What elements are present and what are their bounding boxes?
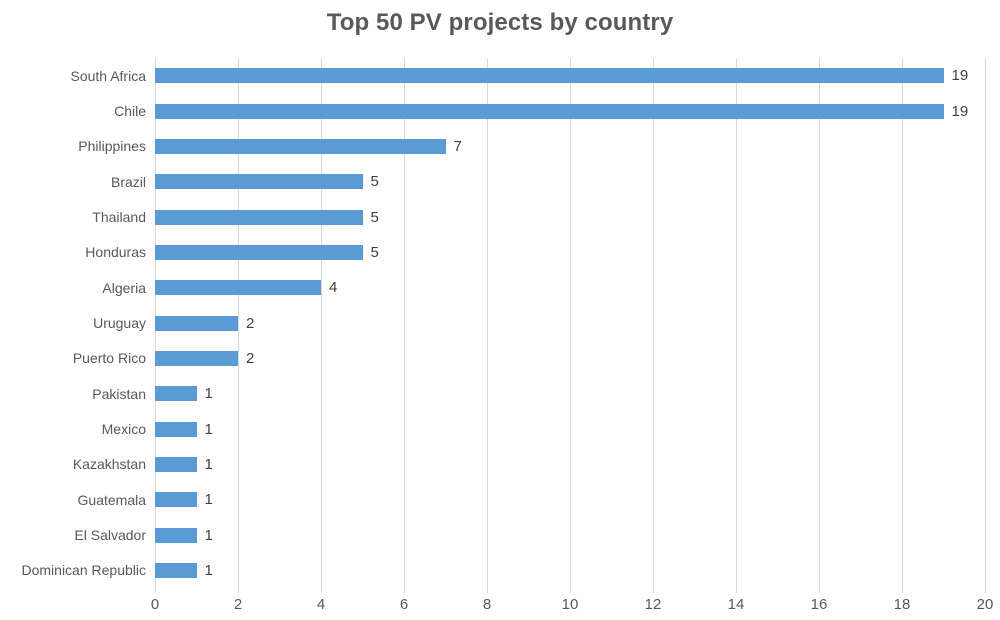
bar-row[interactable]: 1: [155, 386, 985, 401]
tick-mark-18: [902, 588, 903, 593]
bar-row[interactable]: 1: [155, 528, 985, 543]
x-tick-label-12: 12: [623, 596, 683, 614]
bar-honduras[interactable]: [155, 245, 363, 260]
bar-value-label: 1: [205, 455, 213, 474]
tick-mark-6: [404, 588, 405, 593]
bar-row[interactable]: 7: [155, 139, 985, 154]
bar-philippines[interactable]: [155, 139, 446, 154]
x-tick-label-6: 6: [374, 596, 434, 614]
bar-el-salvador[interactable]: [155, 528, 197, 543]
x-tick-label-8: 8: [457, 596, 517, 614]
bar-value-label: 1: [205, 420, 213, 439]
x-tick-label-10: 10: [540, 596, 600, 614]
bar-row[interactable]: 1: [155, 492, 985, 507]
bar-row[interactable]: 2: [155, 316, 985, 331]
bar-value-label: 4: [329, 278, 337, 297]
tick-mark-10: [570, 588, 571, 593]
x-tick-label-0: 0: [125, 596, 185, 614]
y-axis-label-kazakhstan: Kazakhstan: [0, 455, 146, 473]
y-axis-label-puerto-rico: Puerto Rico: [0, 349, 146, 367]
y-axis-label-honduras: Honduras: [0, 243, 146, 261]
bar-value-label: 1: [205, 526, 213, 545]
bar-brazil[interactable]: [155, 174, 363, 189]
bar-puerto-rico[interactable]: [155, 351, 238, 366]
y-axis-label-el-salvador: El Salvador: [0, 526, 146, 544]
y-axis-label-philippines: Philippines: [0, 137, 146, 155]
y-axis-label-mexico: Mexico: [0, 420, 146, 438]
tick-mark-16: [819, 588, 820, 593]
bar-dominican-republic[interactable]: [155, 563, 197, 578]
bar-kazakhstan[interactable]: [155, 457, 197, 472]
bar-mexico[interactable]: [155, 422, 197, 437]
bar-row[interactable]: 19: [155, 68, 985, 83]
bar-thailand[interactable]: [155, 210, 363, 225]
bar-value-label: 1: [205, 561, 213, 580]
bar-row[interactable]: 5: [155, 210, 985, 225]
y-axis-label-guatemala: Guatemala: [0, 491, 146, 509]
y-axis-label-pakistan: Pakistan: [0, 385, 146, 403]
chart-title: Top 50 PV projects by country: [0, 8, 1000, 38]
tick-mark-2: [238, 588, 239, 593]
bar-value-label: 19: [952, 66, 969, 85]
x-tick-label-14: 14: [706, 596, 766, 614]
tick-mark-8: [487, 588, 488, 593]
bar-row[interactable]: 4: [155, 280, 985, 295]
bar-value-label: 1: [205, 490, 213, 509]
tick-mark-20: [985, 588, 986, 593]
x-tick-label-4: 4: [291, 596, 351, 614]
tick-mark-14: [736, 588, 737, 593]
bar-uruguay[interactable]: [155, 316, 238, 331]
bar-guatemala[interactable]: [155, 492, 197, 507]
bar-row[interactable]: 5: [155, 174, 985, 189]
y-axis-label-algeria: Algeria: [0, 279, 146, 297]
y-axis-label-south-africa: South Africa: [0, 67, 146, 85]
bar-algeria[interactable]: [155, 280, 321, 295]
tick-mark-4: [321, 588, 322, 593]
bar-value-label: 5: [371, 172, 379, 191]
bar-pakistan[interactable]: [155, 386, 197, 401]
bar-value-label: 1: [205, 384, 213, 403]
bar-value-label: 2: [246, 314, 254, 333]
y-axis-label-chile: Chile: [0, 102, 146, 120]
bar-row[interactable]: 1: [155, 457, 985, 472]
y-axis-label-uruguay: Uruguay: [0, 314, 146, 332]
gridline-20: [985, 58, 986, 588]
bar-row[interactable]: 19: [155, 104, 985, 119]
tick-mark-0: [155, 588, 156, 593]
y-axis-label-brazil: Brazil: [0, 173, 146, 191]
x-tick-label-16: 16: [789, 596, 849, 614]
plot-area: 19197555422111111: [155, 58, 985, 588]
x-tick-label-20: 20: [955, 596, 1000, 614]
bar-row[interactable]: 2: [155, 351, 985, 366]
bar-value-label: 2: [246, 349, 254, 368]
y-axis-label-thailand: Thailand: [0, 208, 146, 226]
tick-mark-12: [653, 588, 654, 593]
bar-row[interactable]: 1: [155, 563, 985, 578]
bar-south-africa[interactable]: [155, 68, 944, 83]
y-axis-label-dominican-republic: Dominican Republic: [0, 561, 146, 579]
bar-value-label: 7: [454, 137, 462, 156]
x-tick-label-18: 18: [872, 596, 932, 614]
bar-value-label: 19: [952, 102, 969, 121]
x-tick-label-2: 2: [208, 596, 268, 614]
bar-value-label: 5: [371, 243, 379, 262]
bar-value-label: 5: [371, 208, 379, 227]
bar-chart: Top 50 PV projects by country South Afri…: [0, 0, 1000, 620]
bar-row[interactable]: 1: [155, 422, 985, 437]
bar-row[interactable]: 5: [155, 245, 985, 260]
bar-chile[interactable]: [155, 104, 944, 119]
